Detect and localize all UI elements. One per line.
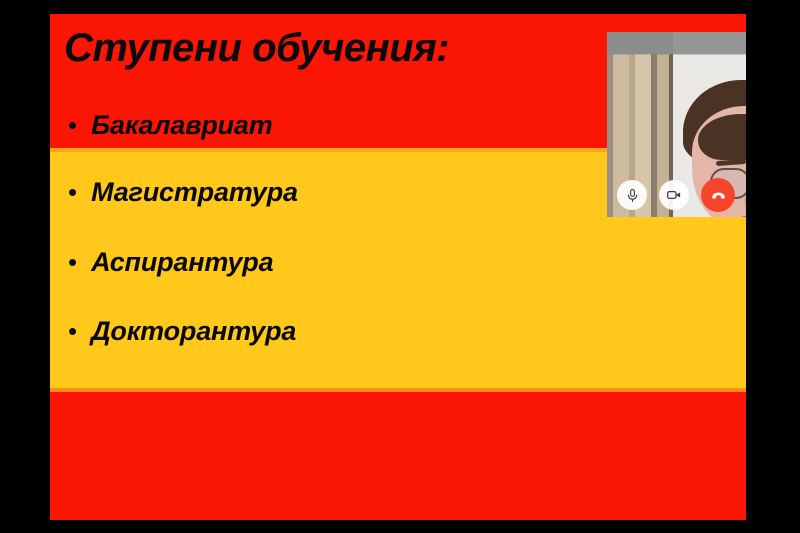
page-title: Ступени обучения: [64, 26, 449, 71]
bullet-marker-icon: • [68, 249, 77, 275]
list-item-label: Бакалавриат [91, 110, 272, 141]
presentation-slide: Ступени обучения: • Бакалавриат • Магист… [50, 14, 746, 520]
avatar-mouth [736, 216, 746, 217]
video-feed-wall-top [673, 32, 746, 54]
list-item: • Бакалавриат [68, 110, 273, 141]
list-item-label: Аспирантура [91, 247, 273, 278]
phone-hangup-icon[interactable] [701, 178, 735, 212]
list-item-label: Магистратура [91, 177, 298, 208]
screen-letterbox: Ступени обучения: • Бакалавриат • Магист… [0, 0, 800, 533]
list-item: • Магистратура [68, 177, 298, 208]
video-camera-icon[interactable] [659, 180, 689, 210]
bullet-marker-icon: • [68, 179, 77, 205]
list-item-label: Докторантура [91, 316, 296, 347]
avatar-fringe [698, 114, 746, 160]
avatar-brow-left [716, 159, 746, 166]
call-controls-bar [607, 175, 746, 215]
video-call-panel[interactable] [607, 32, 746, 217]
microphone-icon[interactable] [617, 180, 647, 210]
bullet-marker-icon: • [68, 112, 77, 138]
bullet-marker-icon: • [68, 318, 77, 344]
list-item: • Аспирантура [68, 247, 273, 278]
list-item: • Докторантура [68, 316, 296, 347]
